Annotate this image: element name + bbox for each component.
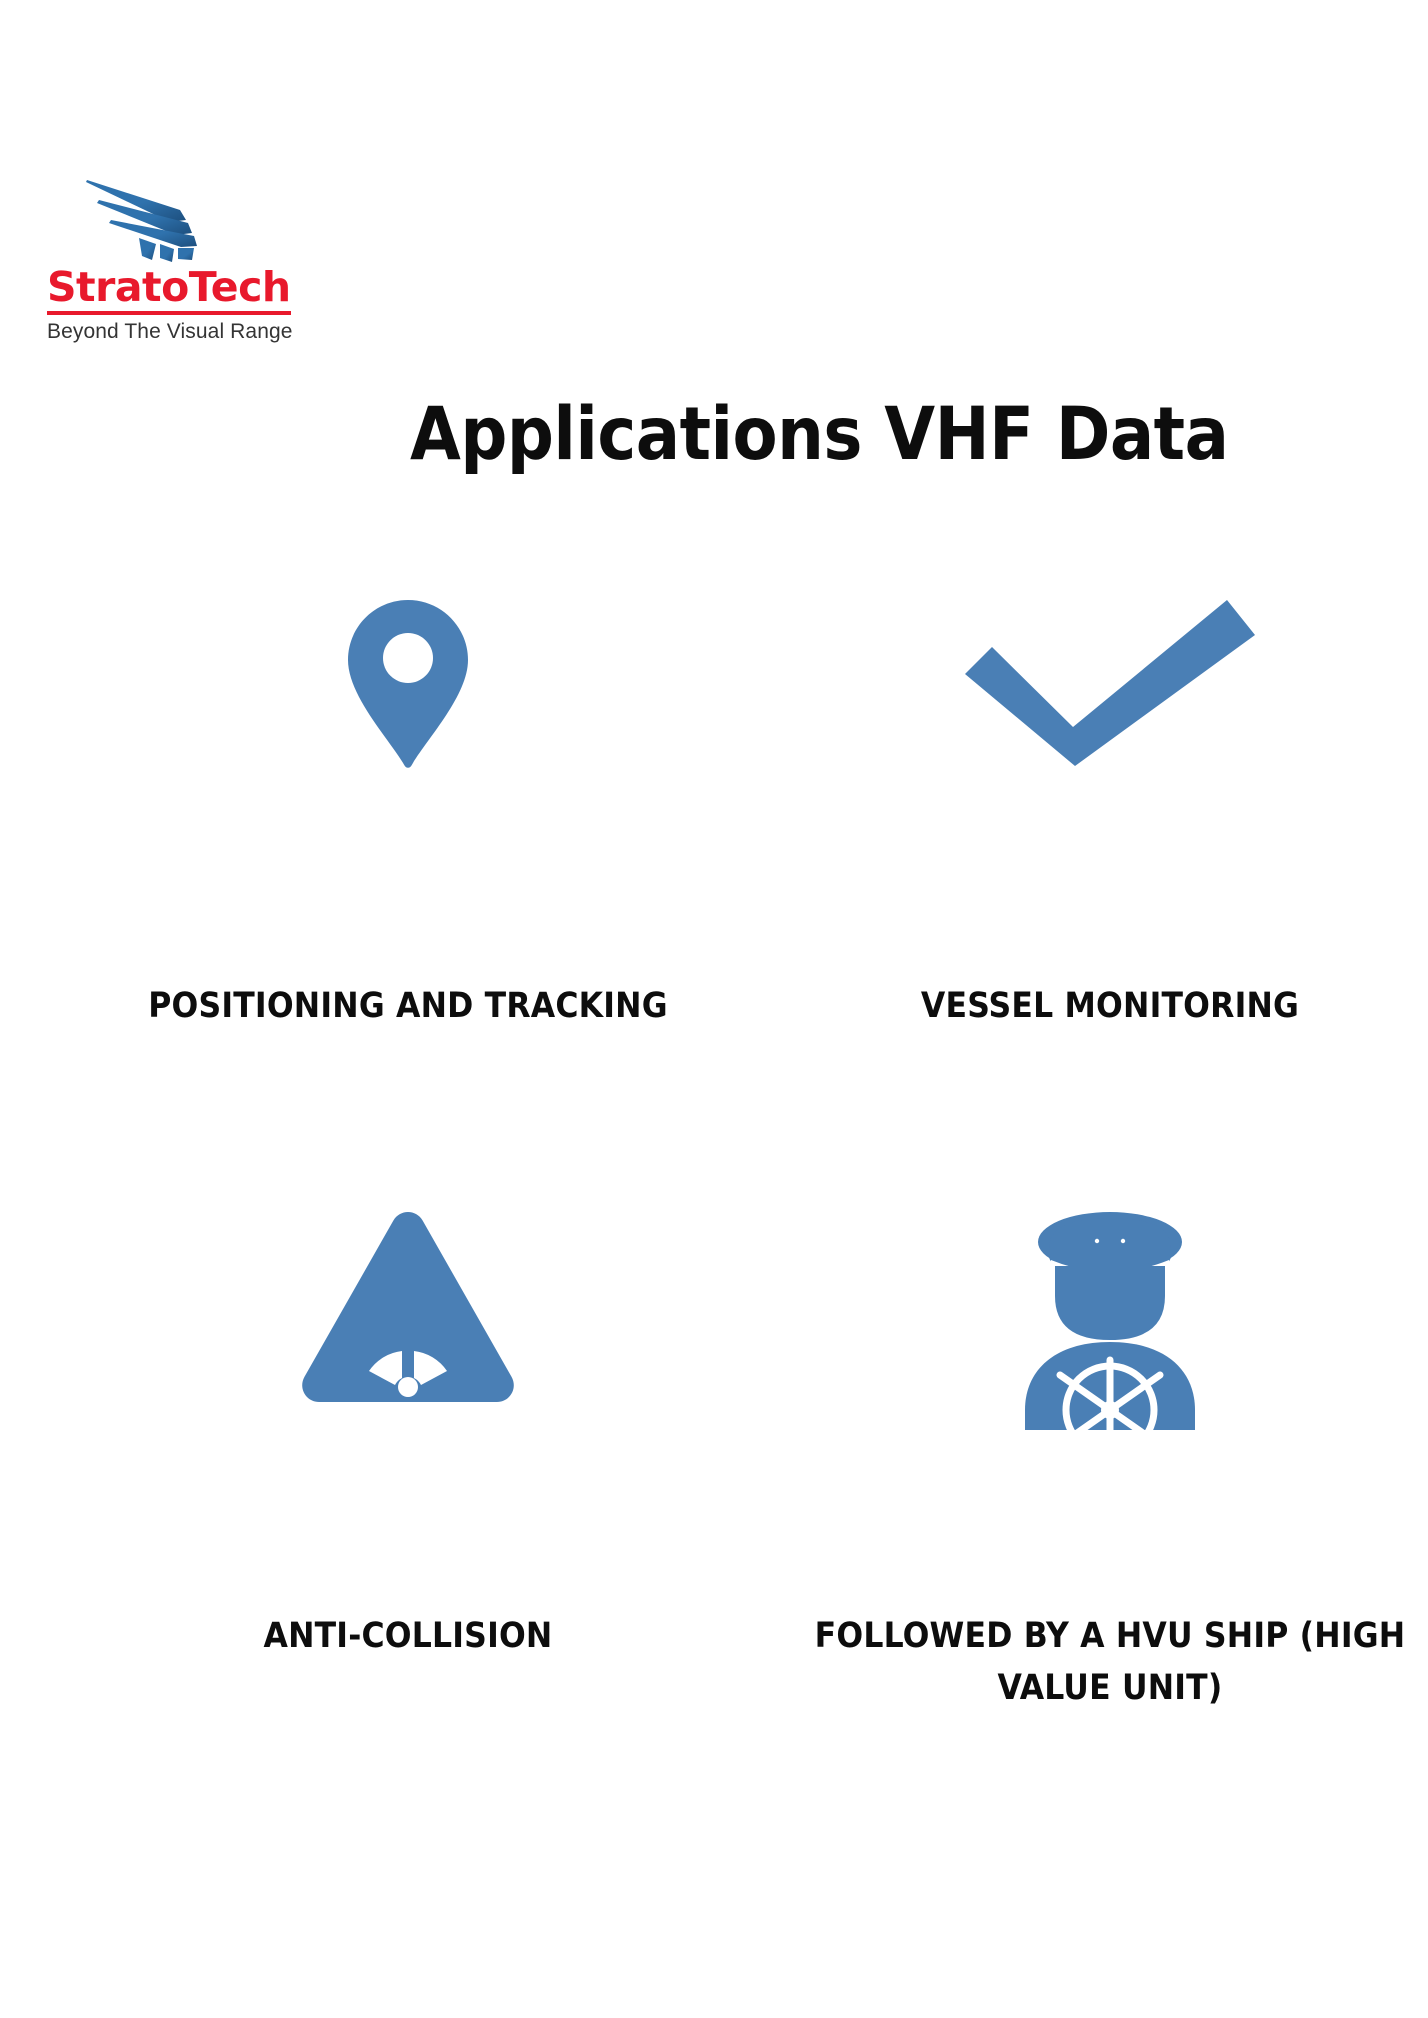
logo-name: StratoTech (47, 264, 291, 315)
logo-tagline: Beyond The Visual Range (47, 320, 297, 344)
radiation-warning-triangle-icon (301, 1210, 515, 1402)
item-icon-wrap (58, 600, 758, 900)
item-icon-wrap (760, 1210, 1428, 1500)
item-label: VESSEL MONITORING (760, 980, 1428, 1032)
location-pin-icon (348, 600, 468, 768)
logo-wordmark: StratoTech Beyond The Visual Range (47, 264, 297, 344)
ship-captain-icon (1003, 1210, 1217, 1430)
item-icon-wrap (760, 600, 1428, 900)
item-label: FOLLOWED BY A HVU SHIP (HIGH VALUE UNIT) (760, 1610, 1428, 1714)
item-followed-by-hvu-ship: FOLLOWED BY A HVU SHIP (HIGH VALUE UNIT) (760, 1210, 1428, 1714)
item-positioning-and-tracking: POSITIONING AND TRACKING (58, 600, 758, 1032)
item-label: ANTI-COLLISION (58, 1610, 758, 1662)
item-label: POSITIONING AND TRACKING (58, 980, 758, 1032)
wing-logo-icon (84, 176, 208, 262)
item-vessel-monitoring: VESSEL MONITORING (760, 600, 1428, 1032)
page-title: Applications VHF Data (410, 392, 1428, 478)
item-icon-wrap (58, 1210, 758, 1500)
item-anti-collision: ANTI-COLLISION (58, 1210, 758, 1662)
slide-canvas: StratoTech Beyond The Visual Range Appli… (0, 0, 1428, 2018)
checkmark-icon (965, 600, 1255, 766)
